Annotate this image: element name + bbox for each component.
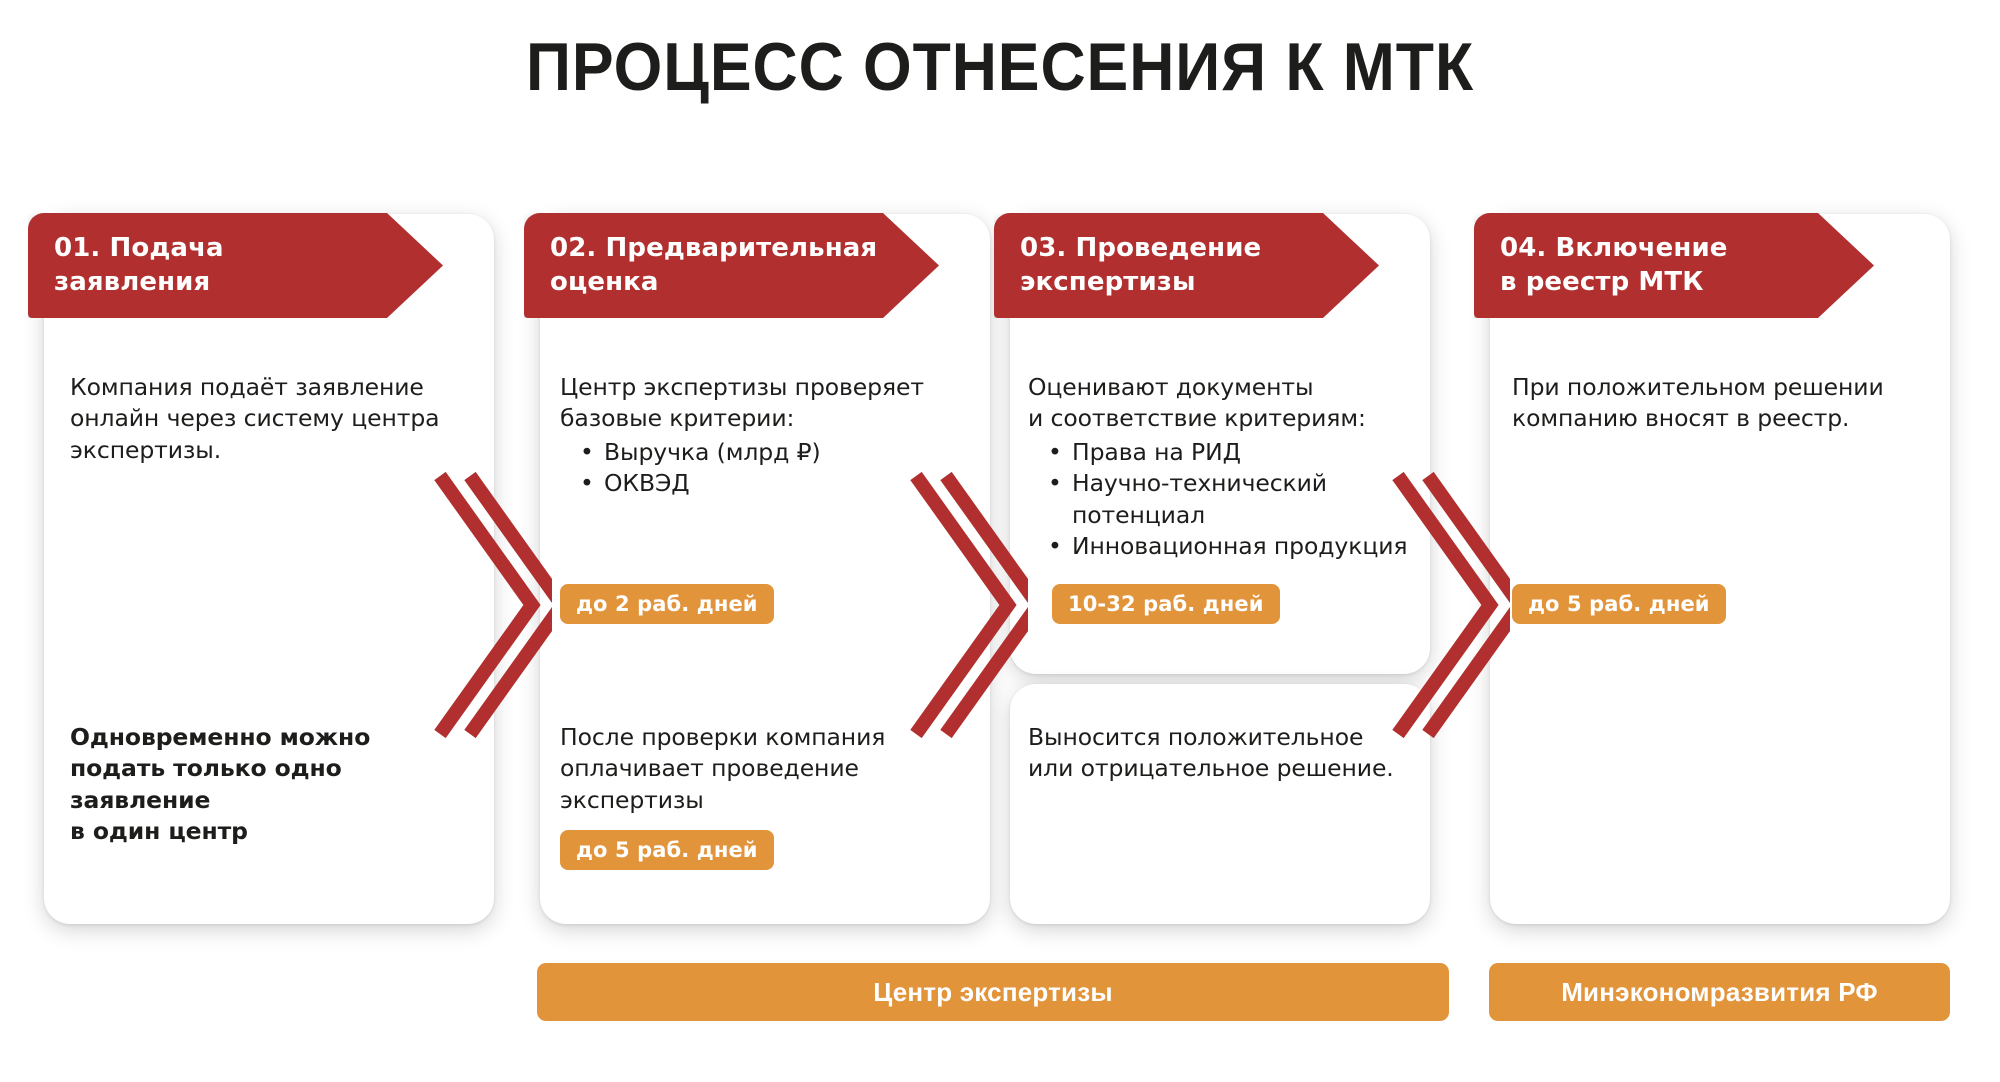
step-duration-pill-2: до 2 раб. дней	[560, 584, 774, 624]
step-note-duration-pill-2: до 5 раб. дней	[560, 830, 774, 870]
footer-owner-bar-ministry: Минэкономразвития РФ	[1489, 963, 1950, 1021]
step-bullets-3: Права на РИД Научно-технический потенциа…	[1028, 437, 1448, 563]
step-banner-3: 03. Проведение экспертизы	[994, 213, 1379, 318]
chevron-step-2-to-3	[908, 470, 1028, 740]
chevron-step-3-to-4	[1390, 470, 1510, 740]
list-item: Научно-технический потенциал	[1046, 468, 1448, 531]
step-intro-2: Центр экспертизы проверяет базовые крите…	[560, 372, 980, 435]
list-item: Выручка (млрд ₽)	[578, 437, 980, 468]
step-banner-2: 02. Предварительная оценка	[524, 213, 939, 318]
step-banner-label-3: 03. Проведение экспертизы	[994, 232, 1321, 300]
step-intro-3: Оценивают документы и соответствие крите…	[1028, 372, 1438, 435]
footer-owner-label-center: Центр экспертизы	[873, 977, 1113, 1008]
page-title: ПРОЦЕСС ОТНЕСЕНИЯ К МТК	[80, 28, 1920, 106]
step-banner-1: 01. Подача заявления	[28, 213, 443, 318]
step-intro-1: Компания подаёт заявление онлайн через с…	[70, 372, 470, 466]
step-banner-label-2: 02. Предварительная оценка	[524, 232, 937, 300]
step-duration-pill-4: до 5 раб. дней	[1512, 584, 1726, 624]
step-banner-4: 04. Включение в реестр МТК	[1474, 213, 1874, 318]
list-item: Права на РИД	[1046, 437, 1448, 468]
step-duration-pill-3: 10-32 раб. дней	[1052, 584, 1280, 624]
step-card-4	[1490, 214, 1950, 924]
step-note-1: Одновременно можно подать только одно за…	[70, 722, 480, 848]
step-intro-4: При положительном решении компанию внося…	[1512, 372, 1942, 435]
step-card-3-secondary	[1010, 684, 1430, 924]
list-item: Инновационная продукция	[1046, 531, 1448, 562]
step-banner-label-4: 04. Включение в реестр МТК	[1474, 232, 1788, 300]
step-banner-label-1: 01. Подача заявления	[28, 232, 443, 300]
footer-owner-label-ministry: Минэкономразвития РФ	[1561, 977, 1878, 1008]
footer-owner-bar-center: Центр экспертизы	[537, 963, 1449, 1021]
chevron-step-1-to-2	[432, 470, 552, 740]
step-note-3: Выносится положительное или отрицательно…	[1028, 722, 1438, 785]
infographic-canvas: ПРОЦЕСС ОТНЕСЕНИЯ К МТК 01. Подача заявл…	[0, 0, 2000, 1082]
